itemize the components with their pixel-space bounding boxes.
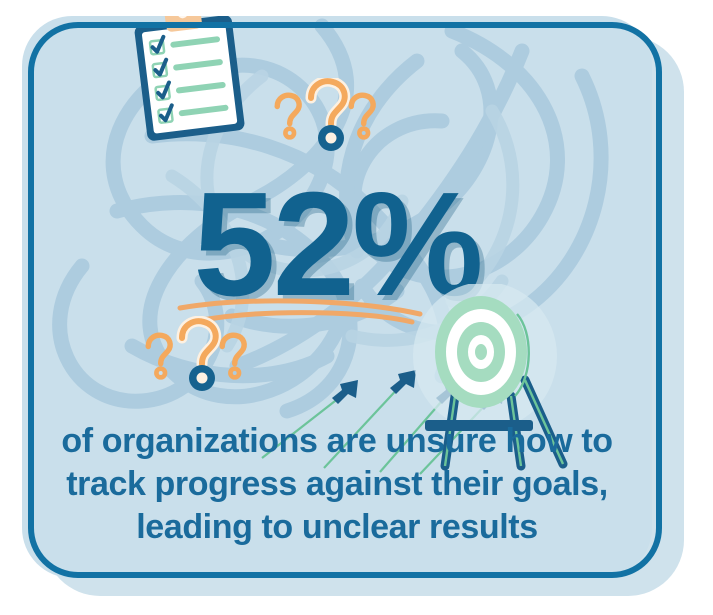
infographic-card: 52% bbox=[0, 0, 713, 615]
caption-text: of organizations are unsure how to track… bbox=[42, 420, 632, 550]
question-mark-icon-cluster-bottom bbox=[140, 316, 260, 411]
question-mark-icon-cluster-top bbox=[267, 78, 387, 168]
card-body: 52% bbox=[22, 16, 652, 578]
caption-line-2: track progress against their goals, bbox=[42, 463, 632, 506]
caption-line-3: leading to unclear results bbox=[42, 506, 632, 549]
clipboard-checklist-icon bbox=[126, 16, 252, 147]
caption-line-1: of organizations are unsure how to bbox=[42, 420, 632, 463]
